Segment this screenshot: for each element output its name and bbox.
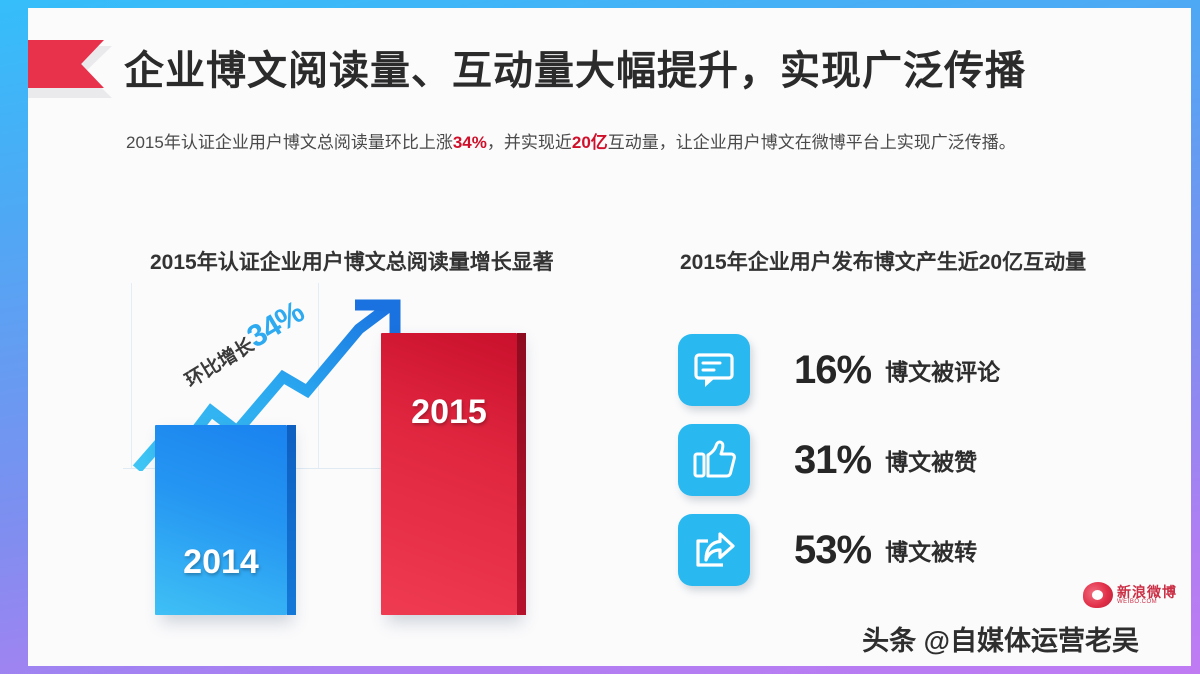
toutiao-watermark: 头条 @自媒体运营老吴 <box>862 619 1139 658</box>
left-section-heading: 2015年认证企业用户博文总阅读量增长显著 <box>150 246 554 276</box>
stat-value-repost: 53% <box>794 528 871 573</box>
weibo-logo-subtext: WEIBO.COM <box>1117 599 1177 605</box>
slide-canvas: 企业博文阅读量、互动量大幅提升，实现广泛传播 2015年认证企业用户博文总阅读量… <box>28 8 1191 666</box>
stat-row-comment: 16% 博文被评论 <box>678 333 1118 407</box>
lede-part-1: 2015年认证企业用户博文总阅读量环比上涨 <box>126 133 453 152</box>
bar-2015: 2015 <box>381 333 517 615</box>
lede-part-2: ，并实现近 <box>487 133 572 152</box>
thumbs-up-icon <box>678 424 750 496</box>
slide-frame: 企业博文阅读量、互动量大幅提升，实现广泛传播 2015年认证企业用户博文总阅读量… <box>0 0 1200 674</box>
bar-2015-side <box>517 333 526 615</box>
interaction-stats-list: 16% 博文被评论 31% 博文被赞 <box>678 333 1118 603</box>
stat-value-comment: 16% <box>794 348 871 393</box>
comment-bubble-icon <box>678 334 750 406</box>
weibo-logo: 新浪微博 WEIBO.COM <box>1083 582 1177 608</box>
growth-label-prefix: 环比增长 <box>182 335 258 392</box>
stat-value-like: 31% <box>794 438 871 483</box>
stat-row-like: 31% 博文被赞 <box>678 423 1118 497</box>
bar-2014-side <box>287 425 296 615</box>
bar-2014-label: 2014 <box>155 543 287 582</box>
gridline-vertical <box>131 283 132 468</box>
lede-highlight-20yi: 20亿 <box>572 133 608 152</box>
stat-label-comment: 博文被评论 <box>885 353 1000 387</box>
stat-row-repost: 53% 博文被转 <box>678 513 1118 587</box>
stat-label-repost: 博文被转 <box>885 533 977 567</box>
growth-arrow-label: 环比增长34% <box>176 294 310 394</box>
bar-2014: 2014 <box>155 425 287 615</box>
lede-part-3: 互动量，让企业用户博文在微博平台上实现广泛传播。 <box>608 133 1016 152</box>
lede-highlight-34: 34% <box>453 133 487 152</box>
page-title: 企业博文阅读量、互动量大幅提升，实现广泛传播 <box>124 38 1026 96</box>
weibo-logo-name: 新浪微博 <box>1117 585 1177 600</box>
bar-2015-label: 2015 <box>381 393 517 432</box>
lede-paragraph: 2015年认证企业用户博文总阅读量环比上涨34%，并实现近20亿互动量，让企业用… <box>126 126 1126 160</box>
weibo-wordmark: 新浪微博 WEIBO.COM <box>1117 585 1177 606</box>
stat-label-like: 博文被赞 <box>885 443 977 477</box>
right-section-heading: 2015年企业用户发布博文产生近20亿互动量 <box>680 246 1086 276</box>
gridline-vertical <box>318 283 319 468</box>
growth-bar-chart: 环比增长34% 2014 2015 <box>123 283 623 633</box>
share-arrow-icon <box>678 514 750 586</box>
weibo-eye-icon <box>1083 582 1113 608</box>
